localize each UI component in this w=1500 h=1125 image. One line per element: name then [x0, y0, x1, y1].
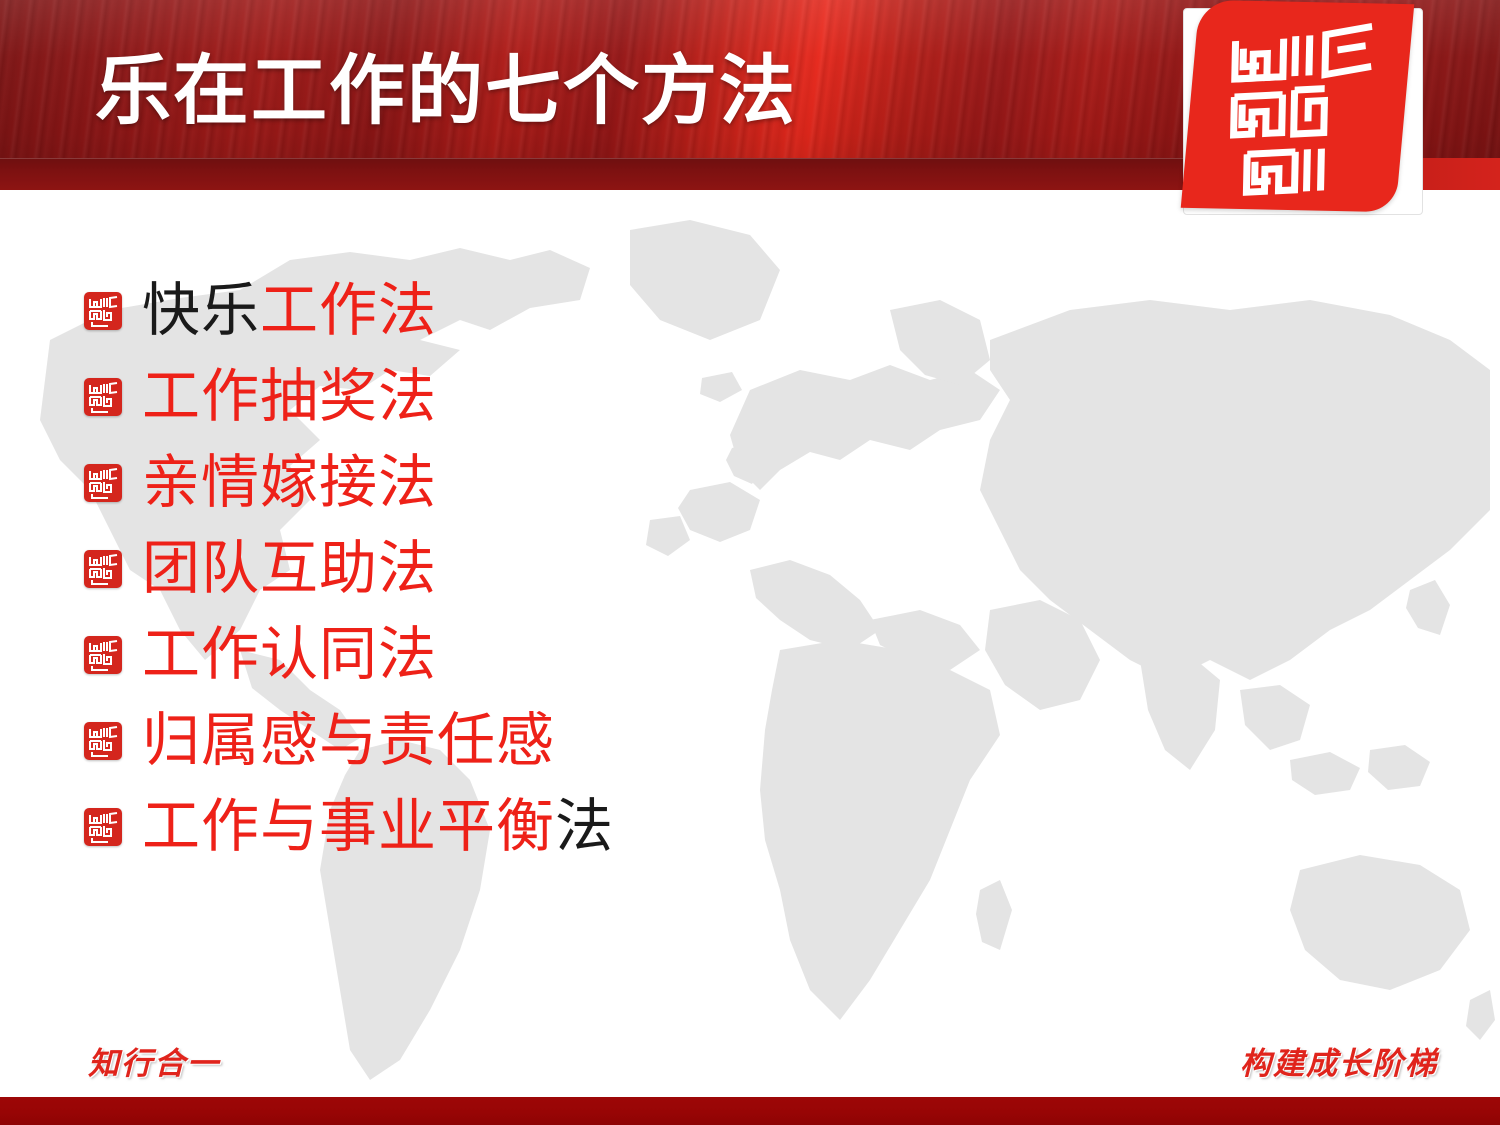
footer-left-slogan: 知行合一 — [88, 1044, 220, 1084]
list-item-label: 亲情嫁接法 — [142, 452, 437, 514]
list-item[interactable]: 工作认同法 — [84, 612, 984, 698]
list-item-label-red: 亲情嫁接法 — [142, 450, 437, 515]
logo-bullet-icon — [84, 292, 122, 330]
list-item-label-red: 工作抽奖法 — [142, 364, 437, 429]
list-item-label-red: 工作认同法 — [142, 622, 437, 687]
logo-bullet-icon — [84, 378, 122, 416]
company-logo[interactable] — [1181, 0, 1415, 212]
list-item-label: 工作抽奖法 — [142, 366, 437, 428]
logo-bullet-icon — [84, 808, 122, 846]
list-item[interactable]: 归属感与责任感 — [84, 698, 984, 784]
bullet-list: 快乐工作法 工作抽奖法 — [84, 268, 984, 870]
list-item-label-red: 工作法 — [260, 278, 437, 343]
list-item[interactable]: 工作抽奖法 — [84, 354, 984, 440]
list-item[interactable]: 工作与事业平衡法 — [84, 784, 984, 870]
list-item[interactable]: 快乐工作法 — [84, 268, 984, 354]
page-title: 乐在工作的七个方法 — [95, 46, 797, 138]
list-item[interactable]: 亲情嫁接法 — [84, 440, 984, 526]
list-item-label-red: 归属感与责任感 — [142, 708, 555, 773]
slide: 乐在工作的七个方法 — [0, 0, 1500, 1125]
list-item-label: 团队互助法 — [142, 538, 437, 600]
logo-bullet-icon — [84, 722, 122, 760]
footer-right-slogan: 构建成长阶梯 — [1240, 1044, 1438, 1084]
list-item-label-red: 工作与事业平衡 — [142, 794, 555, 859]
bottom-accent-bar — [0, 1097, 1500, 1125]
list-item[interactable]: 团队互助法 — [84, 526, 984, 612]
list-item-label: 归属感与责任感 — [142, 710, 555, 772]
list-item-label-red: 团队互助法 — [142, 536, 437, 601]
logo-bullet-icon — [84, 464, 122, 502]
list-item-label-black: 法 — [555, 794, 614, 859]
list-item-label: 工作与事业平衡法 — [142, 796, 614, 858]
list-item-label: 工作认同法 — [142, 624, 437, 686]
list-item-label: 快乐工作法 — [142, 280, 437, 342]
list-item-label-black: 快乐 — [142, 278, 260, 343]
logo-bullet-icon — [84, 636, 122, 674]
logo-bullet-icon — [84, 550, 122, 588]
